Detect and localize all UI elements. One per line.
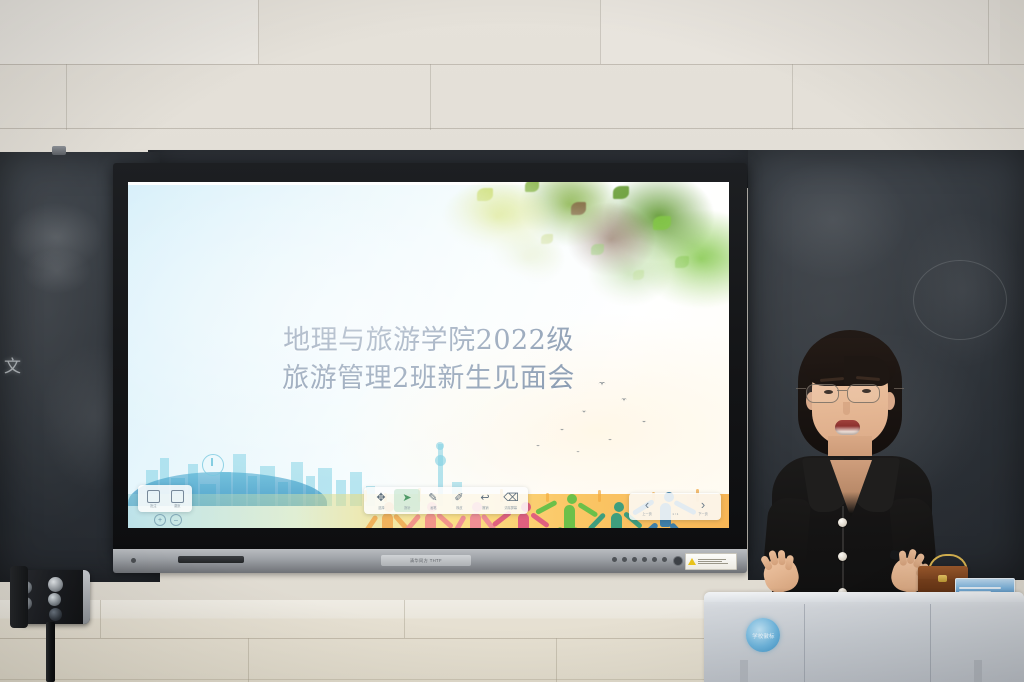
slide-page-indicator: 1 / 1 [661,495,689,518]
tripod-pole[interactable] [46,622,55,682]
mouth [835,420,860,435]
display-brand-logo: 清华同方 THTF [381,555,471,566]
annotation-toolbar-left[interactable]: 批注 翻页 [138,485,192,512]
chevron-right-icon: › [696,498,710,512]
chalkboard-character: 文 [4,352,21,377]
smartphone[interactable] [18,570,90,624]
plus-icon[interactable]: + [154,514,166,526]
toolbar-pen-button[interactable]: ✎ 画笔 [420,489,446,512]
camera-lens-icon [49,608,62,621]
display-hardware-buttons[interactable] [612,557,667,562]
hair-fringe [804,338,896,386]
prev-slide-button[interactable]: ‹ 上一页 [633,495,661,518]
toolbar-clear-button[interactable]: ⌫ 清除屏幕 [498,489,524,512]
bird-icon [581,411,587,414]
nose [843,402,850,415]
toolbar-select-button[interactable]: ✥ 选择 [368,489,394,512]
blouse-button [838,518,847,527]
smartphone-on-tripod[interactable] [10,570,96,682]
warning-triangle-icon [688,558,696,565]
display-wall-mount [178,556,244,563]
lectern-top-lip [704,592,1024,602]
tree-canopy-icon [437,182,729,322]
toolbar-undo-button[interactable]: ↩ 撤销 [472,489,498,512]
undo-icon: ↩ [478,492,492,506]
toolbar-left-button-0[interactable]: 批注 [141,487,165,510]
warning-sticker [685,553,737,570]
slide-title-line-1: 地理与旅游学院2022级 [128,322,729,360]
select-icon: ✥ [374,492,388,506]
slide-pager-toolbar[interactable]: ‹ 上一页 1 / 1 › 下一页 [629,493,721,520]
minus-icon[interactable]: – [170,514,182,526]
sticker-text-lines [698,559,728,564]
grid-icon [146,490,160,504]
school-emblem-icon: 学校徽标 [746,618,780,652]
cursor-icon: ➤ [400,492,414,506]
bag-clasp-icon [938,575,947,582]
eraser-icon: ✐ [452,492,466,506]
bird-icon [642,421,647,423]
slide-title: 地理与旅游学院2022级 旅游管理2班新生见面会 [128,322,729,399]
pen-icon: ✎ [426,492,440,506]
next-slide-button[interactable]: › 下一页 [689,495,717,518]
toolbar-left-button-1[interactable]: 翻页 [165,487,189,510]
lectern[interactable]: 学校徽标 [704,592,1024,682]
compass-emblem-icon [202,454,224,476]
bird-icon [608,439,612,441]
board-clip [52,146,66,155]
bird-icon [621,398,628,401]
toolbar-eraser-button[interactable]: ✐ 橡皮 [446,489,472,512]
chevron-left-icon: ‹ [640,498,654,512]
clear-icon: ⌫ [504,492,518,506]
phone-edge [83,570,90,624]
annotation-toolbar-left-mini[interactable]: + – [154,514,182,526]
blouse-button [838,552,847,561]
toolbar-cursor-button[interactable]: ➤ 指针 [394,489,420,512]
page-number-icon [668,498,682,512]
projection-screen[interactable]: 地理与旅游学院2022级 旅游管理2班新生见面会 [128,182,729,528]
annotation-toolbar-center[interactable]: ✥ 选择 ➤ 指针 ✎ 画笔 ✐ 橡皮 ↩ 撤销 ⌫ 清除屏幕 [364,487,528,514]
bird-icon [576,451,580,453]
tripod-clamp[interactable] [10,566,28,628]
classroom-scene: 文 [0,0,1024,682]
page-icon [170,490,184,504]
ir-receiver-icon [131,558,136,563]
camera-lens-icon [48,593,61,606]
slide-title-line-2: 旅游管理2班新生见面会 [128,360,729,398]
power-button[interactable] [673,556,683,566]
camera-lens-icon [48,577,63,592]
glasses [806,384,894,402]
